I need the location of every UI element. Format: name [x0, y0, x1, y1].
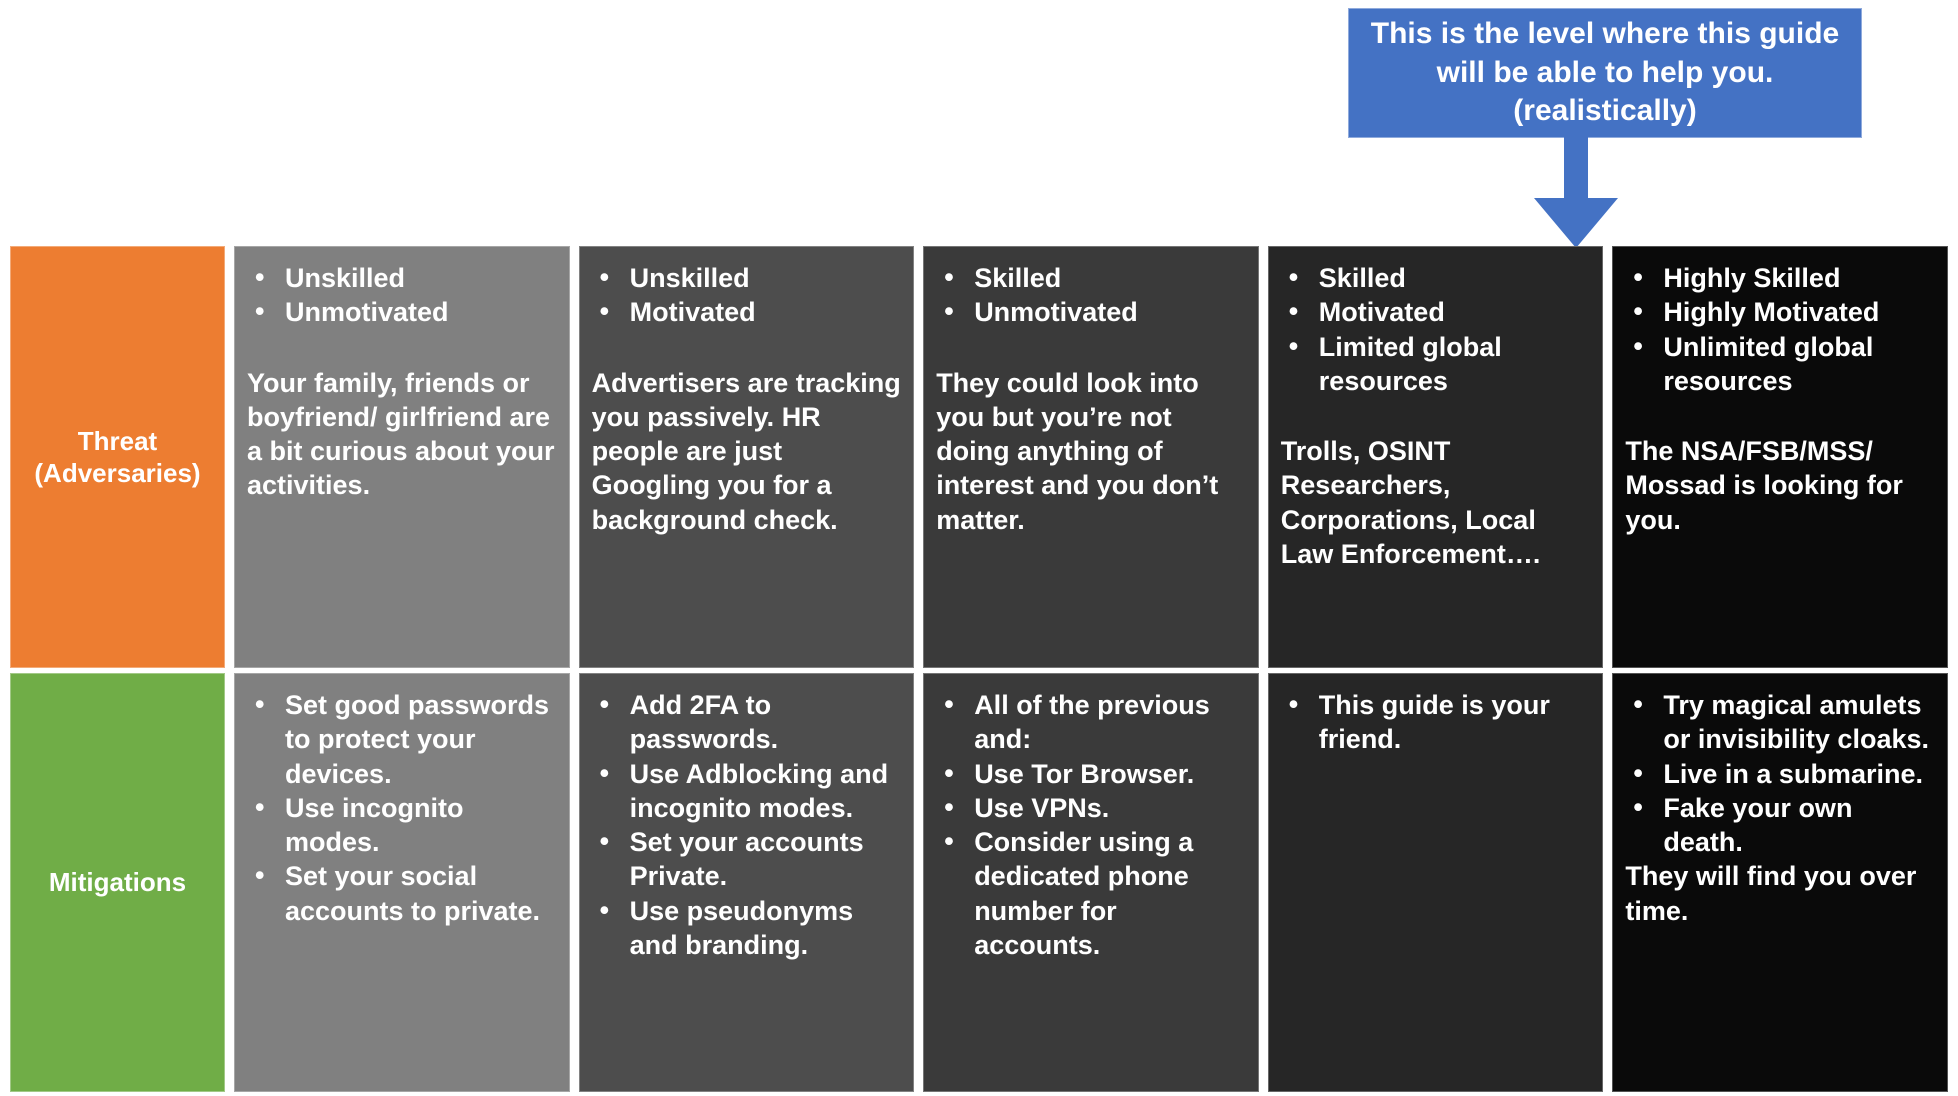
list-item: Highly Skilled	[1629, 261, 1935, 295]
list-item: Unlimited global resources	[1629, 330, 1935, 399]
callout-box: This is the level where this guide will …	[1348, 8, 1862, 138]
threat-bullets-2: Unskilled Motivated	[596, 261, 902, 330]
list-item: Set good passwords to protect your devic…	[251, 688, 557, 791]
row-label-mitigations-text: Mitigations	[49, 866, 186, 899]
list-item: Skilled	[940, 261, 1246, 295]
row-label-threat-text: Threat (Adversaries)	[34, 425, 200, 490]
list-item: Unskilled	[596, 261, 902, 295]
list-item: Motivated	[1285, 295, 1591, 329]
list-item: Skilled	[1285, 261, 1591, 295]
matrix-grid: Threat (Adversaries) Unskilled Unmotivat…	[10, 246, 1948, 1092]
threat-cell-1: Unskilled Unmotivated Your family, frien…	[234, 246, 570, 668]
list-item: Use pseudonyms and branding.	[596, 894, 902, 963]
list-item: Fake your own death.	[1629, 791, 1935, 860]
row-label-mitigations: Mitigations	[10, 673, 225, 1092]
list-item: Use incognito modes.	[251, 791, 557, 860]
list-item: Consider using a dedicated phone number …	[940, 825, 1246, 962]
list-item: Unmotivated	[251, 295, 557, 329]
list-item: This guide is your friend.	[1285, 688, 1591, 757]
list-item: Live in a submarine.	[1629, 757, 1935, 791]
list-item: Highly Motivated	[1629, 295, 1935, 329]
list-item: Use Adblocking and incognito modes.	[596, 757, 902, 826]
list-item: Use Tor Browser.	[940, 757, 1246, 791]
threat-bullets-1: Unskilled Unmotivated	[251, 261, 557, 330]
threat-paragraph-1: Your family, friends or boyfriend/ girlf…	[247, 366, 557, 503]
threat-paragraph-4: Trolls, OSINT Researchers, Corporations,…	[1281, 434, 1591, 571]
list-item: Set your accounts Private.	[596, 825, 902, 894]
list-item: Motivated	[596, 295, 902, 329]
mitigations-cell-1: Set good passwords to protect your devic…	[234, 673, 570, 1092]
list-item: Add 2FA to passwords.	[596, 688, 902, 757]
mitigations-cell-5: Try magical amulets or invisibility cloa…	[1612, 673, 1948, 1092]
mitigations-bullets-1: Set good passwords to protect your devic…	[251, 688, 557, 928]
threat-paragraph-3: They could look into you but you’re not …	[936, 366, 1246, 537]
list-item: Set your social accounts to private.	[251, 859, 557, 928]
mitigations-bullets-2: Add 2FA to passwords. Use Adblocking and…	[596, 688, 902, 962]
threat-bullets-5: Highly Skilled Highly Motivated Unlimite…	[1629, 261, 1935, 398]
threat-cell-2: Unskilled Motivated Advertisers are trac…	[579, 246, 915, 668]
callout-text: This is the level where this guide will …	[1371, 15, 1839, 130]
threat-bullets-3: Skilled Unmotivated	[940, 261, 1246, 330]
list-item: Unmotivated	[940, 295, 1246, 329]
list-item: Use VPNs.	[940, 791, 1246, 825]
mitigations-bullets-4: This guide is your friend.	[1285, 688, 1591, 757]
threat-cell-4: Skilled Motivated Limited global resourc…	[1268, 246, 1604, 668]
threat-model-matrix-page: This is the level where this guide will …	[0, 0, 1958, 1096]
mitigations-paragraph-5: They will find you over time.	[1625, 859, 1935, 928]
threat-bullets-4: Skilled Motivated Limited global resourc…	[1285, 261, 1591, 398]
threat-paragraph-5: The NSA/FSB/MSS/ Mossad is looking for y…	[1625, 434, 1935, 537]
mitigations-cell-4: This guide is your friend.	[1268, 673, 1604, 1092]
threat-paragraph-2: Advertisers are tracking you passively. …	[592, 366, 902, 537]
list-item: Unskilled	[251, 261, 557, 295]
mitigations-bullets-3: All of the previous and: Use Tor Browser…	[940, 688, 1246, 962]
list-item: Try magical amulets or invisibility cloa…	[1629, 688, 1935, 757]
mitigations-cell-3: All of the previous and: Use Tor Browser…	[923, 673, 1259, 1092]
down-arrow-icon	[1528, 136, 1624, 252]
list-item: Limited global resources	[1285, 330, 1591, 399]
mitigations-bullets-5: Try magical amulets or invisibility cloa…	[1629, 688, 1935, 859]
row-label-threat: Threat (Adversaries)	[10, 246, 225, 668]
threat-cell-3: Skilled Unmotivated They could look into…	[923, 246, 1259, 668]
threat-cell-5: Highly Skilled Highly Motivated Unlimite…	[1612, 246, 1948, 668]
mitigations-cell-2: Add 2FA to passwords. Use Adblocking and…	[579, 673, 915, 1092]
list-item: All of the previous and:	[940, 688, 1246, 757]
